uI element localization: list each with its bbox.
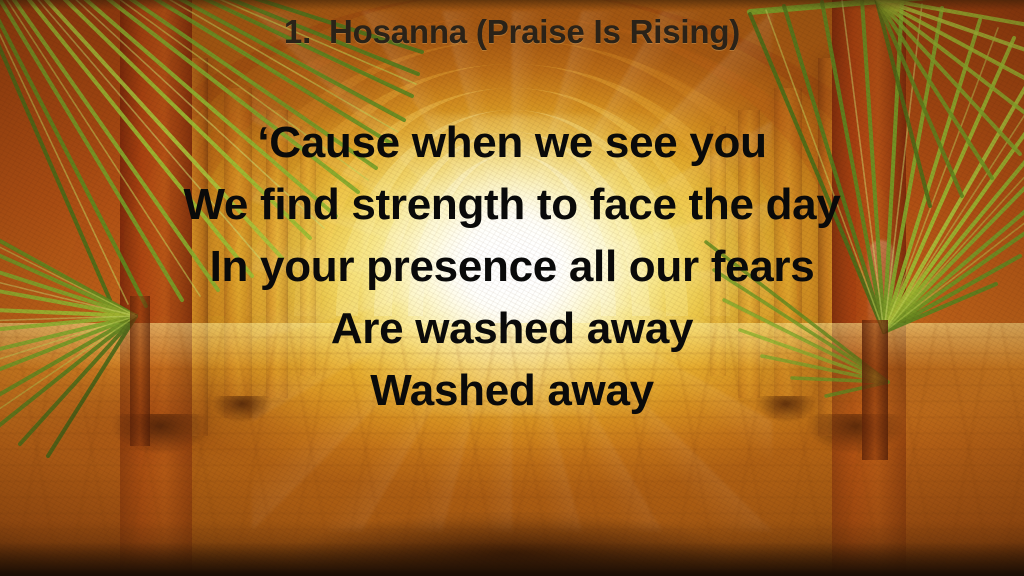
lyric-line-1: ‘Cause when we see you: [0, 112, 1024, 174]
lyrics-block: ‘Cause when we see you We find strength …: [0, 112, 1024, 422]
slide-text-layer: 1. Hosanna (Praise Is Rising) ‘Cause whe…: [0, 0, 1024, 576]
slide-title: 1. Hosanna (Praise Is Rising): [0, 12, 1024, 52]
lyric-line-3: In your presence all our fears: [0, 236, 1024, 298]
lyric-line-5: Washed away: [0, 360, 1024, 422]
lyric-line-2: We find strength to face the day: [0, 174, 1024, 236]
presentation-slide: 1. Hosanna (Praise Is Rising) ‘Cause whe…: [0, 0, 1024, 576]
lyric-line-4: Are washed away: [0, 298, 1024, 360]
